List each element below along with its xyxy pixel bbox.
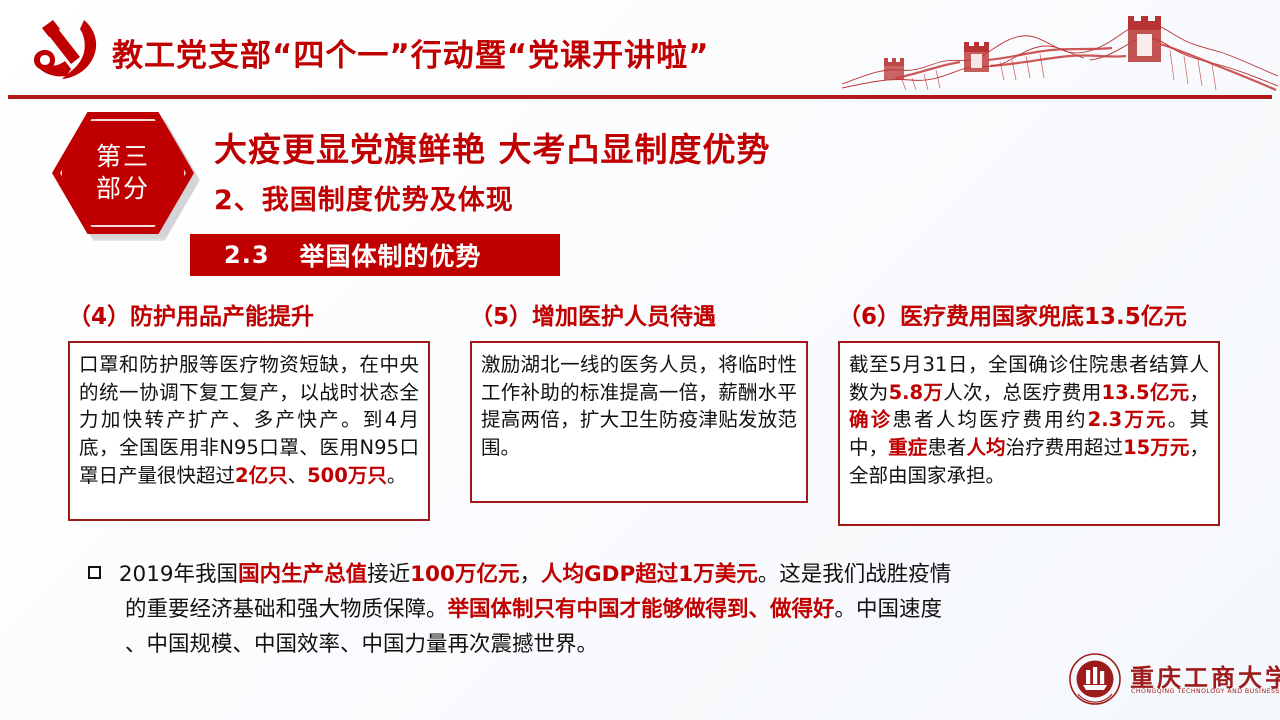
column-2-heading: （5）增加医护人员待遇 (470, 297, 808, 331)
banner-label: 举国体制的优势 (300, 237, 482, 273)
content-column-2: （5）增加医护人员待遇 激励湖北一线的医务人员，将临时性工作补助的标准提高一倍，… (470, 297, 808, 503)
body-text: 、中国规模、中国效率、中国力量再次震撼世界。 (125, 632, 598, 657)
body-text: 激励湖北一线的医务人员，将临时性工作补助的标准提高一倍，薪酬水平提高两倍，扩大卫… (481, 353, 797, 459)
highlighted-text: 13.5亿元 (1102, 381, 1190, 404)
section-badge: 第三 部分 (52, 112, 200, 240)
highlighted-text: 人均 (966, 436, 1005, 459)
content-column-1: （4）防护用品产能提升 口罩和防护服等医疗物资短缺，在中央的统一协调下复工复产，… (68, 297, 430, 521)
body-text: 患者 (927, 436, 966, 459)
body-text: ， (519, 562, 541, 587)
summary-paragraph: 2019年我国国内生产总值接近100万亿元，人均GDP超过1万美元。这是我们战胜… (88, 558, 1238, 662)
highlighted-text: 100万亿元 (410, 562, 519, 587)
body-text: 2019年我国 (119, 562, 238, 587)
banner-number: 2.3 (224, 241, 270, 269)
column-2-textbox: 激励湖北一线的医务人员，将临时性工作补助的标准提高一倍，薪酬水平提高两倍，扩大卫… (470, 341, 808, 503)
highlighted-text: 国内生产总值 (238, 562, 367, 587)
header-title: 教工党支部“四个一”行动暨“党课开讲啦” (112, 30, 710, 75)
university-seal-icon (1068, 652, 1122, 706)
slide-subtitle: 2、我国制度优势及体现 (214, 178, 514, 217)
university-logo: 重庆工商大学 CHONGQING TECHNOLOGY AND BUSINESS… (1068, 650, 1268, 712)
hammer-sickle-icon (22, 16, 108, 88)
body-text: 接近 (367, 562, 410, 587)
highlighted-text: 举国体制只有中国才能够做得到、做得好 (448, 597, 835, 622)
highlighted-text: 500万只 (307, 464, 387, 487)
badge-text: 第三 部分 (52, 112, 194, 234)
summary-line-2: 的重要经济基础和强大物质保障。举国体制只有中国才能够做得到、做得好。中国速度 (125, 593, 1238, 628)
highlighted-text: 5.8万 (889, 381, 944, 404)
body-text: 的重要经济基础和强大物质保障。 (125, 597, 448, 622)
body-text: 治疗费用超过 (1006, 436, 1123, 459)
column-1-textbox: 口罩和防护服等医疗物资短缺，在中央的统一协调下复工复产，以战时状态全力加快转产扩… (68, 341, 430, 521)
university-name-en: CHONGQING TECHNOLOGY AND BUSINESS UNIVER… (1131, 688, 1280, 695)
badge-line-2: 部分 (96, 173, 150, 205)
highlighted-text: 2亿只 (235, 464, 288, 487)
body-text: 、 (288, 464, 308, 487)
slide-title: 大疫更显党旗鲜艳 大考凸显制度优势 (214, 123, 771, 171)
great-wall-illustration (840, 0, 1280, 94)
column-3-heading: （6）医疗费用国家兜底13.5亿元 (838, 297, 1220, 331)
section-banner: 2.3 举国体制的优势 (190, 234, 560, 276)
column-1-heading: （4）防护用品产能提升 (68, 297, 430, 331)
highlighted-text: 确诊 (849, 408, 892, 431)
content-column-3: （6）医疗费用国家兜底13.5亿元 截至5月31日，全国确诊住院患者结算人数为5… (838, 297, 1220, 526)
body-text: 患者人均医疗费用约 (892, 408, 1087, 431)
slide-canvas: 教工党支部“四个一”行动暨“党课开讲啦” (0, 0, 1280, 720)
body-text: 人次，总医疗费用 (943, 381, 1101, 404)
body-text: 。中国速度 (835, 597, 943, 622)
highlighted-text: 15万元 (1123, 436, 1189, 459)
column-3-textbox: 截至5月31日，全国确诊住院患者结算人数为5.8万人次，总医疗费用13.5亿元，… (838, 341, 1220, 526)
body-text: 。这是我们战胜疫情 (758, 562, 952, 587)
badge-line-1: 第三 (96, 141, 150, 173)
body-text: 。 (387, 464, 407, 487)
body-text: ， (1189, 381, 1209, 404)
header-divider (8, 95, 1272, 99)
highlighted-text: 2.3万元 (1088, 408, 1168, 431)
highlighted-text: 人均GDP超过1万美元 (541, 562, 758, 587)
summary-line-1: 2019年我国国内生产总值接近100万亿元，人均GDP超过1万美元。这是我们战胜… (119, 562, 951, 587)
slide-header: 教工党支部“四个一”行动暨“党课开讲啦” (0, 0, 1280, 96)
highlighted-text: 重症 (888, 436, 927, 459)
square-bullet-icon (88, 566, 101, 579)
